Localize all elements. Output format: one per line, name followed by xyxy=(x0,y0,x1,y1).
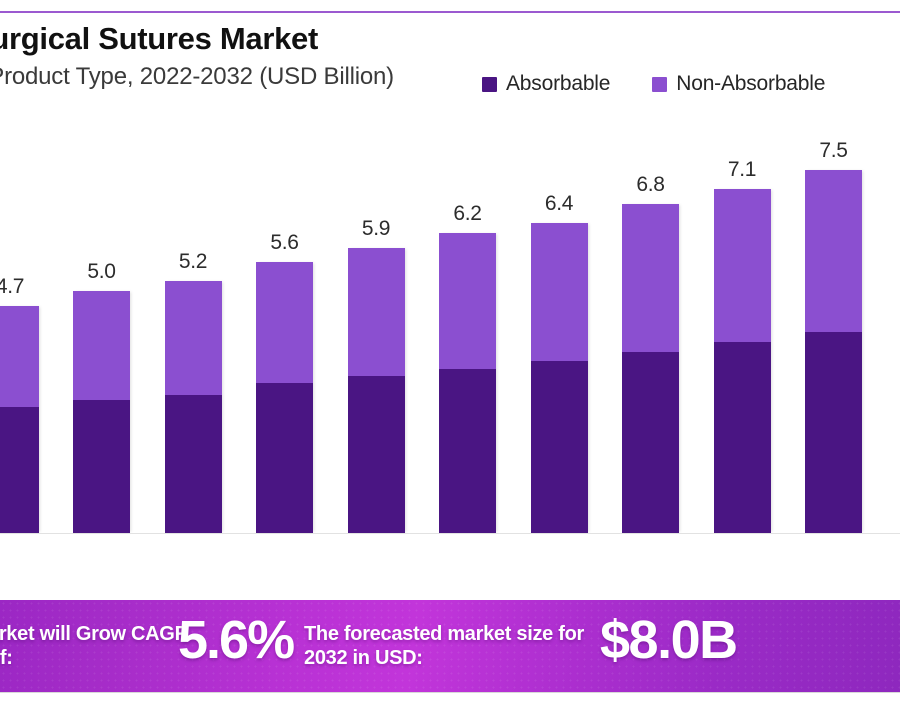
bar-segment-absorbable[interactable] xyxy=(256,383,313,533)
bar-stack xyxy=(256,262,313,533)
bar-segment-absorbable[interactable] xyxy=(439,369,496,534)
legend-label-non-absorbable: Non-Absorbable xyxy=(676,72,825,96)
legend-label-absorbable: Absorbable xyxy=(506,72,610,96)
bar-stack xyxy=(714,189,771,533)
top-accent-rule xyxy=(0,11,900,13)
bar-segment-non-absorbable[interactable] xyxy=(348,248,405,376)
bar-segment-non-absorbable[interactable] xyxy=(0,306,39,408)
bar-group-2025[interactable] xyxy=(256,262,313,533)
bar-value-label-2028: 6.4 xyxy=(545,192,573,216)
bar-value-label-2030: 7.1 xyxy=(728,158,756,182)
bar-group-2028[interactable] xyxy=(531,223,588,533)
bar-stack xyxy=(531,223,588,533)
bar-group-2027[interactable] xyxy=(439,233,496,533)
cagr-caption: arket will Grow CAGR of: xyxy=(0,622,203,671)
legend-swatch-absorbable xyxy=(482,77,497,92)
bar-stack xyxy=(348,248,405,533)
cagr-value: 5.6% xyxy=(178,613,293,667)
bar-stack xyxy=(165,281,222,533)
bar-segment-absorbable[interactable] xyxy=(348,376,405,533)
bar-segment-non-absorbable[interactable] xyxy=(73,291,130,400)
bar-stack xyxy=(622,204,679,533)
bar-group-2030[interactable] xyxy=(714,189,771,533)
bar-segment-non-absorbable[interactable] xyxy=(531,223,588,361)
bar-segment-non-absorbable[interactable] xyxy=(622,204,679,352)
bar-segment-absorbable[interactable] xyxy=(714,342,771,533)
bar-value-label-2023: 5.0 xyxy=(87,260,115,284)
bar-segment-non-absorbable[interactable] xyxy=(805,170,862,332)
page-title: Surgical Sutures Market xyxy=(0,22,490,57)
forecast-value: $8.0B xyxy=(600,613,737,667)
chart-plot-area: 4.75.05.25.65.96.26.46.87.17.5 202220232… xyxy=(0,130,900,600)
bar-value-label-2027: 6.2 xyxy=(453,202,481,226)
bar-series-container: 4.75.05.25.65.96.26.46.87.17.5 xyxy=(0,130,900,534)
title-block: Surgical Sutures Market y Product Type, … xyxy=(0,22,490,90)
bar-segment-non-absorbable[interactable] xyxy=(165,281,222,395)
bar-value-label-2029: 6.8 xyxy=(636,173,664,197)
bar-group-2026[interactable] xyxy=(348,248,405,533)
bottom-summary-banner: arket will Grow CAGR of: 5.6% The foreca… xyxy=(0,600,900,692)
bar-segment-absorbable[interactable] xyxy=(73,400,130,533)
chart-header: Surgical Sutures Market y Product Type, … xyxy=(0,22,900,114)
bar-value-label-2025: 5.6 xyxy=(270,231,298,255)
bar-stack xyxy=(805,170,862,533)
bar-group-2022[interactable] xyxy=(0,306,39,533)
forecast-caption: The forecasted market size for 2032 in U… xyxy=(304,622,594,671)
bar-segment-non-absorbable[interactable] xyxy=(256,262,313,383)
bar-group-2031[interactable] xyxy=(805,170,862,533)
chart-subtitle: y Product Type, 2022-2032 (USD Billion) xyxy=(0,63,490,91)
bar-value-label-2024: 5.2 xyxy=(179,250,207,274)
legend-item-absorbable[interactable]: Absorbable xyxy=(482,72,610,96)
legend-item-non-absorbable[interactable]: Non-Absorbable xyxy=(652,72,825,96)
bar-stack xyxy=(439,233,496,533)
bar-segment-absorbable[interactable] xyxy=(622,352,679,533)
bar-stack xyxy=(73,291,130,533)
bar-segment-non-absorbable[interactable] xyxy=(714,189,771,341)
bar-value-label-2031: 7.5 xyxy=(819,139,847,163)
chart-legend: Absorbable Non-Absorbable xyxy=(482,72,825,96)
bar-segment-absorbable[interactable] xyxy=(165,395,222,533)
legend-swatch-non-absorbable xyxy=(652,77,667,92)
bar-group-2029[interactable] xyxy=(622,204,679,533)
bar-value-label-2022: 4.7 xyxy=(0,275,24,299)
bar-group-2023[interactable] xyxy=(73,291,130,533)
x-axis-baseline xyxy=(0,533,900,534)
bar-segment-absorbable[interactable] xyxy=(0,407,39,533)
bar-value-label-2026: 5.9 xyxy=(362,217,390,241)
bottom-rule xyxy=(0,692,900,693)
bar-segment-absorbable[interactable] xyxy=(805,332,862,533)
bar-segment-absorbable[interactable] xyxy=(531,361,588,533)
bar-segment-non-absorbable[interactable] xyxy=(439,233,496,368)
bar-stack xyxy=(0,306,39,533)
bar-group-2024[interactable] xyxy=(165,281,222,533)
